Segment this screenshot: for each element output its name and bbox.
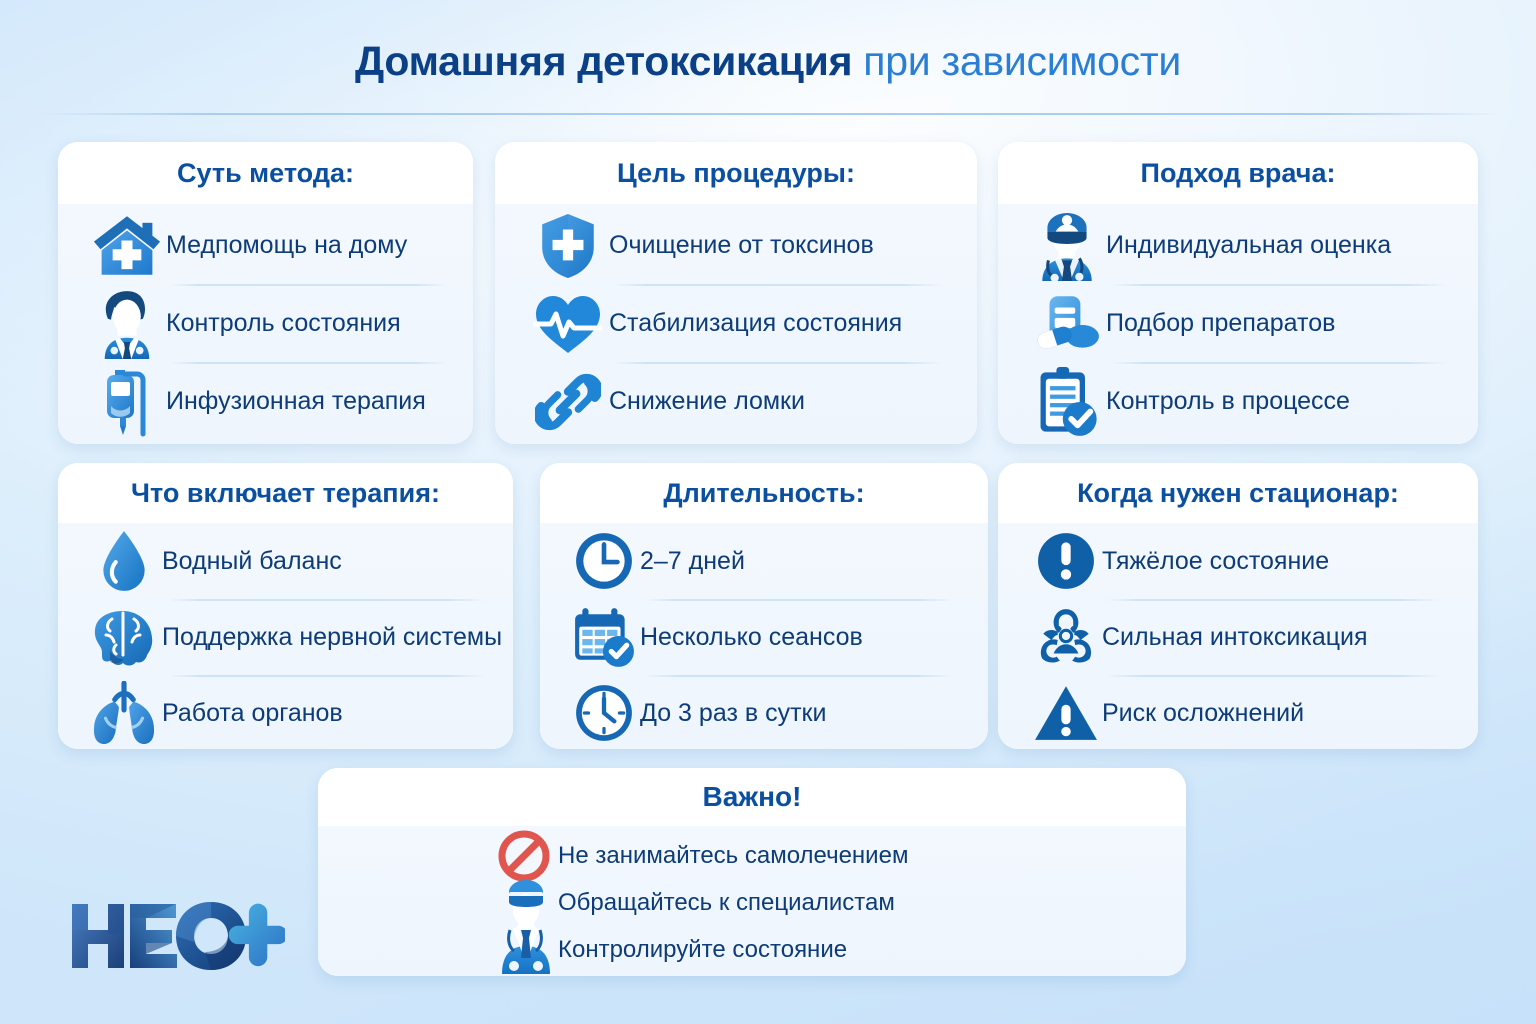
list-item: Риск осложнений [1030, 677, 1450, 749]
card-therapy-title: Что включает терапия: [58, 463, 513, 523]
card-hospital-title: Когда нужен стационар: [998, 463, 1478, 523]
clock-ticks-icon [568, 682, 640, 744]
card-approach-title: Подход врача: [998, 142, 1478, 204]
brain-icon [86, 605, 162, 669]
list-item-label: Риск осложнений [1102, 699, 1304, 728]
list-item-label: Контроль в процессе [1106, 387, 1350, 416]
list-item-label: Контролируйте состояние [558, 936, 847, 964]
water-drop-icon [86, 529, 162, 593]
page-title-strong: Домашняя детоксикация [355, 38, 852, 84]
list-item-label: Стабилизация состояния [609, 309, 902, 338]
card-goal: Цель процедуры: Очищение от токсинов [495, 142, 977, 444]
list-item-label: Инфузионная терапия [166, 387, 426, 416]
list-item: 2–7 дней [568, 525, 968, 597]
warning-triangle-icon [1030, 682, 1102, 744]
list-item: Стабилизация состояния [527, 286, 947, 361]
list-item-label: 2–7 дней [640, 547, 745, 576]
list-item-label: Несколько сеансов [640, 623, 863, 652]
list-item-label: Водный баланс [162, 547, 342, 576]
iv-drip-icon [88, 366, 166, 438]
neo-plus-logo [70, 898, 285, 976]
card-hospital-body: Тяжёлое состояние [998, 523, 1478, 749]
list-item: Сильная интоксикация [1030, 601, 1450, 673]
exclamation-circle-icon [1030, 530, 1102, 592]
list-item: Работа органов [86, 677, 496, 749]
shield-cross-icon [527, 212, 609, 280]
list-item-label: Контроль состояния [166, 309, 401, 338]
card-method-title: Суть метода: [58, 142, 473, 204]
list-item: Не занимайтесь самолечением [558, 832, 908, 880]
list-item-label: Работа органов [162, 699, 343, 728]
card-method-body: Медпомощь на дому [58, 204, 473, 444]
list-item: Очищение от токсинов [527, 208, 947, 283]
clipboard-check-icon [1028, 366, 1106, 438]
heart-pulse-icon [527, 291, 609, 357]
list-item-label: Тяжёлое состояние [1102, 547, 1329, 576]
list-item: Медпомощь на дому [88, 208, 448, 283]
list-item-label: Медпомощь на дому [166, 231, 407, 260]
prohibition-icon [498, 830, 550, 882]
house-cross-icon [88, 213, 166, 279]
doctor-figure-icon [493, 878, 559, 974]
card-approach: Подход врача: [998, 142, 1478, 444]
card-therapy: Что включает терапия: Водный баланс [58, 463, 513, 749]
doctor-bust-icon [88, 289, 166, 359]
card-important: Важно! [318, 768, 1186, 976]
calendar-check-icon [568, 605, 640, 669]
list-item-label: Индивидуальная оценка [1106, 231, 1391, 260]
card-approach-body: Индивидуальная оценка [998, 204, 1478, 444]
lungs-icon [86, 680, 162, 746]
list-item: Тяжёлое состояние [1030, 525, 1450, 597]
list-item-label: Поддержка нервной системы [162, 623, 502, 652]
card-duration-title: Длительность: [540, 463, 988, 523]
card-goal-body: Очищение от токсинов Стабилизация состоя… [495, 204, 977, 444]
card-duration: Длительность: 2–7 дней [540, 463, 988, 749]
clock-icon [568, 530, 640, 592]
card-method: Суть метода: Медпомощь на дому [58, 142, 473, 444]
card-therapy-body: Водный баланс [58, 523, 513, 749]
list-item: Несколько сеансов [568, 601, 968, 673]
list-item: Водный баланс [86, 525, 496, 597]
list-item-label: Сильная интоксикация [1102, 623, 1368, 652]
title-divider [36, 113, 1500, 115]
card-important-body: Не занимайтесь самолечением Обращайтесь … [318, 826, 1186, 976]
list-item: Поддержка нервной системы [86, 601, 496, 673]
infographic-page: Домашняя детоксикация при зависимости Су… [0, 0, 1536, 1024]
card-duration-body: 2–7 дней [540, 523, 988, 749]
list-item-label: Не занимайтесь самолечением [558, 842, 908, 870]
list-item: Инфузионная терапия [88, 364, 448, 439]
list-item: Контроль состояния [88, 286, 448, 361]
list-item-label: Снижение ломки [609, 387, 805, 416]
card-important-title: Важно! [318, 768, 1186, 826]
list-item-label: Подбор препаратов [1106, 309, 1335, 338]
page-title: Домашняя детоксикация при зависимости [0, 36, 1536, 86]
card-hospital: Когда нужен стационар: Тяжёлое состояние [998, 463, 1478, 749]
chain-link-icon [527, 369, 609, 435]
list-item-label: До 3 раз в сутки [640, 699, 826, 728]
biohazard-icon [1030, 605, 1102, 669]
list-item: До 3 раз в сутки [568, 677, 968, 749]
list-item: Подбор препаратов [1028, 286, 1448, 361]
card-goal-title: Цель процедуры: [495, 142, 977, 204]
list-item: Контролируйте состояние [558, 926, 847, 974]
page-title-light: при зависимости [852, 38, 1181, 84]
list-item-label: Обращайтесь к специалистам [558, 889, 895, 917]
list-item-label: Очищение от токсинов [609, 231, 874, 260]
list-item: Индивидуальная оценка [1028, 208, 1448, 283]
list-item: Контроль в процессе [1028, 364, 1448, 439]
doctor-cap-icon [1028, 211, 1106, 281]
pills-bottle-icon [1028, 292, 1106, 356]
list-item: Снижение ломки [527, 364, 947, 439]
list-item: Обращайтесь к специалистам [558, 879, 895, 927]
